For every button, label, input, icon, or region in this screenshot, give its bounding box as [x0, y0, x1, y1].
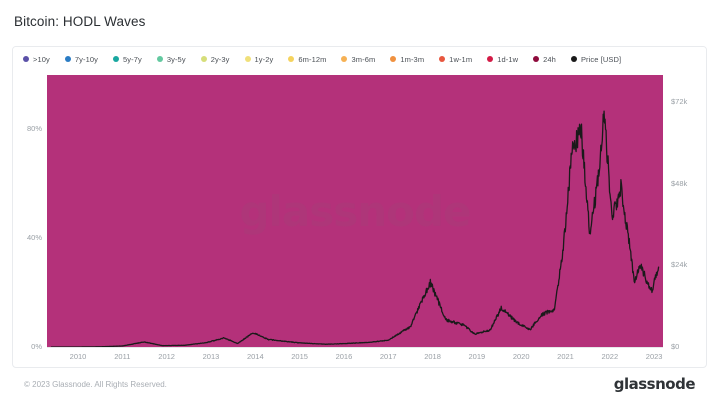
legend-item-1d-1w[interactable]: 1d-1w [487, 55, 518, 64]
x-tick: 2015 [291, 352, 308, 361]
legend-swatch-icon [65, 56, 71, 62]
x-tick: 2023 [646, 352, 663, 361]
legend-swatch-icon [201, 56, 207, 62]
legend-item-7y-10y[interactable]: 7y-10y [65, 55, 98, 64]
legend-label: 1y-2y [255, 55, 274, 64]
plot-area: 0%40%80% $0$24k$48k$72k glassnode 201020… [13, 71, 707, 368]
glassnode-logo: glassnode [614, 375, 695, 393]
y-tick-right: $48k [671, 179, 687, 188]
x-tick: 2016 [336, 352, 353, 361]
stacked-area-plot[interactable] [47, 75, 663, 347]
legend-item-5y-7y[interactable]: 5y-7y [113, 55, 142, 64]
y-tick-left: 80% [27, 124, 42, 133]
legend-swatch-icon [341, 56, 347, 62]
x-tick: 2017 [380, 352, 397, 361]
x-tick: 2022 [601, 352, 618, 361]
legend-item-1y-2y[interactable]: 1y-2y [245, 55, 274, 64]
legend-swatch-icon [245, 56, 251, 62]
y-tick-left: 0% [31, 342, 42, 351]
legend-label: >10y [33, 55, 50, 64]
legend-swatch-icon [390, 56, 396, 62]
x-tick: 2014 [247, 352, 264, 361]
legend-label: 5y-7y [123, 55, 142, 64]
legend-item-24h[interactable]: 24h [533, 55, 556, 64]
chart-page: Bitcoin: HODL Waves >10y7y-10y5y-7y3y-5y… [0, 0, 719, 405]
x-tick: 2021 [557, 352, 574, 361]
legend-swatch-icon [288, 56, 294, 62]
legend-label: 7y-10y [75, 55, 98, 64]
copyright-text: © 2023 Glassnode. All Rights Reserved. [24, 380, 167, 389]
y-tick-right: $72k [671, 97, 687, 106]
x-tick: 2018 [424, 352, 441, 361]
legend-swatch-icon [113, 56, 119, 62]
legend-label: 3y-5y [167, 55, 186, 64]
legend-item-price-usd[interactable]: Price [USD] [571, 55, 621, 64]
page-title: Bitcoin: HODL Waves [14, 14, 145, 29]
legend-item-6m-12m[interactable]: 6m-12m [288, 55, 326, 64]
x-tick: 2011 [114, 352, 130, 361]
x-tick: 2010 [70, 352, 87, 361]
y-tick-right: $0 [671, 342, 679, 351]
y-tick-left: 40% [27, 233, 42, 242]
y-axis-left: 0%40%80% [13, 75, 45, 347]
page-footer: © 2023 Glassnode. All Rights Reserved. g… [12, 368, 707, 400]
legend-swatch-icon [439, 56, 445, 62]
legend-label: 2y-3y [211, 55, 230, 64]
x-tick: 2012 [158, 352, 175, 361]
legend-label: 3m-6m [351, 55, 375, 64]
legend-item-3y-5y[interactable]: 3y-5y [157, 55, 186, 64]
legend-item-2y-3y[interactable]: 2y-3y [201, 55, 230, 64]
legend-swatch-icon [23, 56, 29, 62]
legend-label: 1d-1w [497, 55, 518, 64]
area-band-24h [47, 75, 663, 347]
x-tick: 2013 [203, 352, 220, 361]
legend-item-10y[interactable]: >10y [23, 55, 50, 64]
legend-label: 1m-3m [400, 55, 424, 64]
legend-swatch-icon [571, 56, 577, 62]
legend-label: 1w-1m [449, 55, 472, 64]
y-tick-right: $24k [671, 260, 687, 269]
y-axis-right: $0$24k$48k$72k [667, 75, 707, 347]
page-header: Bitcoin: HODL Waves [0, 0, 719, 42]
x-tick: 2020 [513, 352, 530, 361]
legend-label: Price [USD] [581, 55, 621, 64]
x-tick: 2019 [469, 352, 486, 361]
legend-item-3m-6m[interactable]: 3m-6m [341, 55, 375, 64]
chart-card: >10y7y-10y5y-7y3y-5y2y-3y1y-2y6m-12m3m-6… [12, 46, 707, 368]
legend-item-1m-3m[interactable]: 1m-3m [390, 55, 424, 64]
chart-svg [47, 75, 663, 347]
chart-legend: >10y7y-10y5y-7y3y-5y2y-3y1y-2y6m-12m3m-6… [13, 47, 707, 71]
legend-swatch-icon [157, 56, 163, 62]
x-axis-line [47, 347, 663, 348]
legend-label: 6m-12m [298, 55, 326, 64]
legend-item-1w-1m[interactable]: 1w-1m [439, 55, 472, 64]
legend-label: 24h [543, 55, 556, 64]
legend-swatch-icon [533, 56, 539, 62]
x-axis: 2010201120122013201420152016201720182019… [47, 349, 663, 367]
legend-swatch-icon [487, 56, 493, 62]
